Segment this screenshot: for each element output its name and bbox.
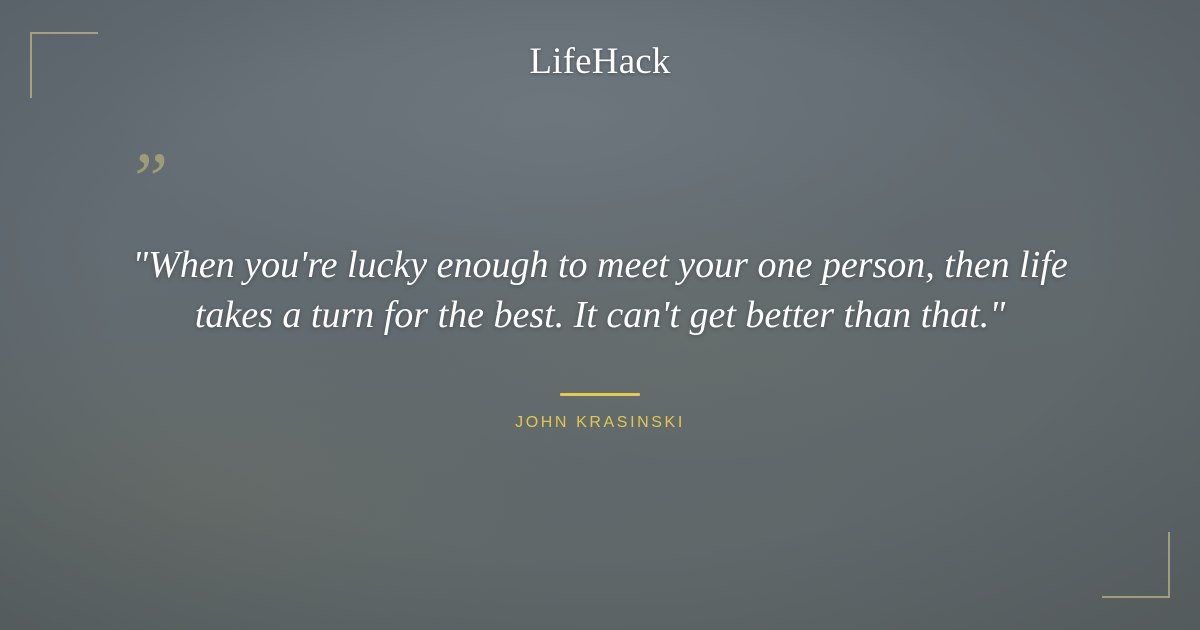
corner-bracket-bottom-right-icon (1102, 532, 1170, 598)
quote-line: takes a turn for the best. It can't get … (60, 290, 1140, 340)
gold-divider (560, 393, 640, 396)
author-attribution: JOHN KRASINSKI (0, 414, 1200, 432)
quote-text: "When you're lucky enough to meet your o… (60, 240, 1140, 340)
brand-logo: LifeHack (0, 40, 1200, 83)
quote-card: LifeHack ” "When you're lucky enough to … (0, 0, 1200, 630)
divider-container (0, 383, 1200, 401)
quote-line: "When you're lucky enough to meet your o… (60, 240, 1140, 290)
quotation-mark-icon: ” (126, 142, 168, 218)
